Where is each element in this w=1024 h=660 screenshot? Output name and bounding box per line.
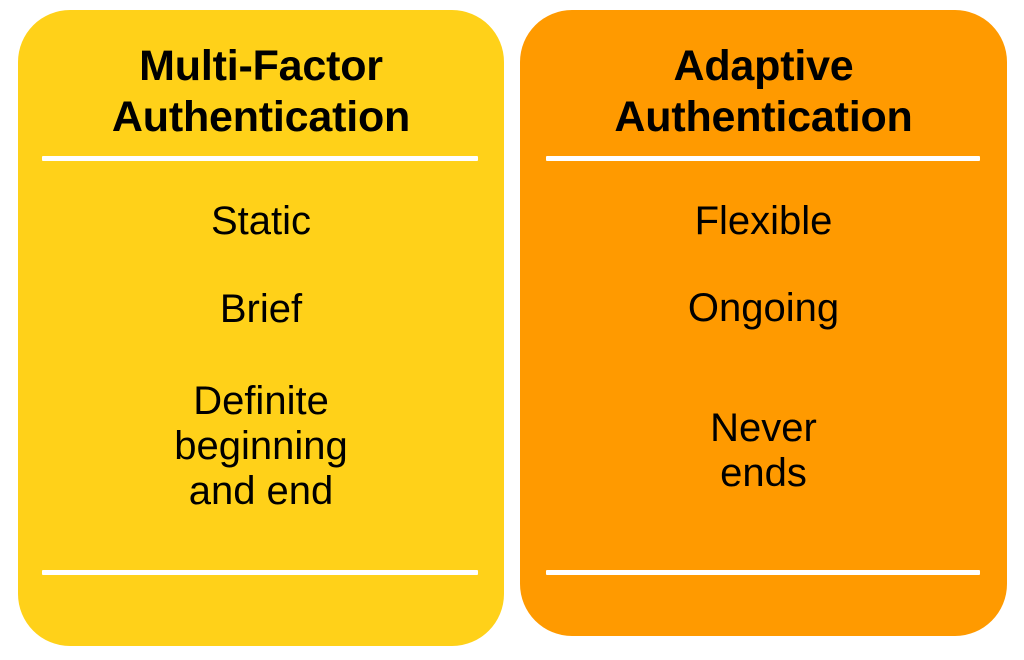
card-body-adaptive-authentication: Flexible Ongoing Never ends: [520, 161, 1007, 636]
card-title-multi-factor-authentication: Multi-Factor Authentication: [18, 10, 504, 142]
card-adaptive-authentication[interactable]: Adaptive Authentication Flexible Ongoing…: [520, 10, 1007, 636]
card-item: Definite beginning and end: [42, 379, 480, 513]
card-bottom-divider: [546, 570, 980, 575]
card-multi-factor-authentication[interactable]: Multi-Factor Authentication Static Brief…: [18, 10, 504, 646]
card-bottom-divider: [42, 570, 478, 575]
card-item: Flexible: [544, 199, 983, 244]
card-item: Static: [42, 199, 480, 244]
card-item: Brief: [42, 287, 480, 332]
card-title-adaptive-authentication: Adaptive Authentication: [520, 10, 1007, 142]
card-item: Never ends: [544, 406, 983, 496]
card-item: Ongoing: [544, 286, 983, 331]
comparison-board: Multi-Factor Authentication Static Brief…: [0, 0, 1024, 660]
